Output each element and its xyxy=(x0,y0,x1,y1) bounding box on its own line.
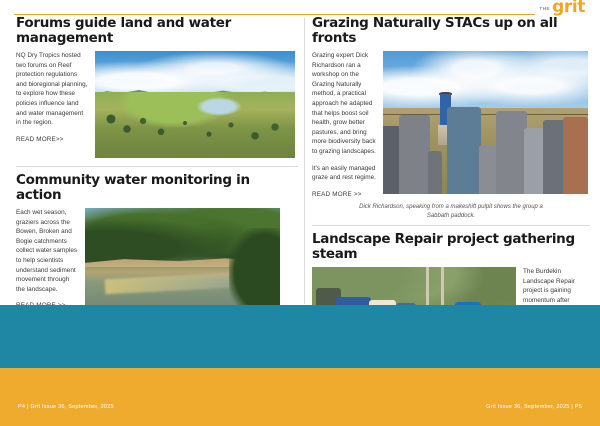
left-section-rule xyxy=(16,166,298,167)
footer-left-text: P4 | Grit Issue 36, September, 2025 xyxy=(18,404,114,410)
article-forums: Forums guide land and water management N… xyxy=(16,16,298,158)
article-landscape-headline: Landscape Repair project gathering steam xyxy=(312,232,590,262)
article-grazing-read-more[interactable]: READ MORE >> xyxy=(312,190,376,200)
left-column: Forums guide land and water management N… xyxy=(16,16,298,317)
newsletter-page: THE grit Forums guide land and water man… xyxy=(0,0,600,426)
grit-logo: THE grit xyxy=(535,0,588,15)
article-grazing-caption: Dick Richardson, speaking from a makeshi… xyxy=(352,203,550,220)
footer-right-text: Grit Issue 36, September, 2025 | P5 xyxy=(486,404,582,410)
aerial-floodplain-photo xyxy=(95,51,295,158)
article-grazing-body: Grazing expert Dick Richardson ran a wor… xyxy=(312,51,376,157)
article-grazing-text: Grazing expert Dick Richardson ran a wor… xyxy=(312,51,376,199)
right-section-rule xyxy=(312,225,590,226)
article-grazing-body2: It's an easily managed graze and rest re… xyxy=(312,164,376,183)
logo-the-text: THE xyxy=(539,6,550,11)
article-water-body: Each wet season, graziers across the Bow… xyxy=(16,208,78,294)
logo-brand-text: grit xyxy=(552,0,585,15)
article-forums-text: NQ Dry Tropics hosted two forums on Reef… xyxy=(16,51,88,144)
river-catchment-photo xyxy=(85,208,280,317)
article-forums-headline: Forums guide land and water management xyxy=(16,16,298,46)
article-forums-body: NQ Dry Tropics hosted two forums on Reef… xyxy=(16,51,88,128)
grazing-workshop-photo xyxy=(383,51,588,194)
workshop-crowd xyxy=(383,100,588,194)
article-forums-read-more[interactable]: READ MORE>> xyxy=(16,135,88,145)
article-grazing-headline: Grazing Naturally STACs up on all fronts xyxy=(312,16,590,46)
article-water-monitoring: Community water monitoring in action Eac… xyxy=(16,173,298,317)
right-column: Grazing Naturally STACs up on all fronts… xyxy=(312,16,590,349)
article-water-text: Each wet season, graziers across the Bow… xyxy=(16,208,78,311)
article-water-headline: Community water monitoring in action xyxy=(16,173,298,203)
teal-step-edge xyxy=(0,305,600,368)
column-divider xyxy=(304,18,305,304)
article-grazing: Grazing Naturally STACs up on all fronts… xyxy=(312,16,590,220)
